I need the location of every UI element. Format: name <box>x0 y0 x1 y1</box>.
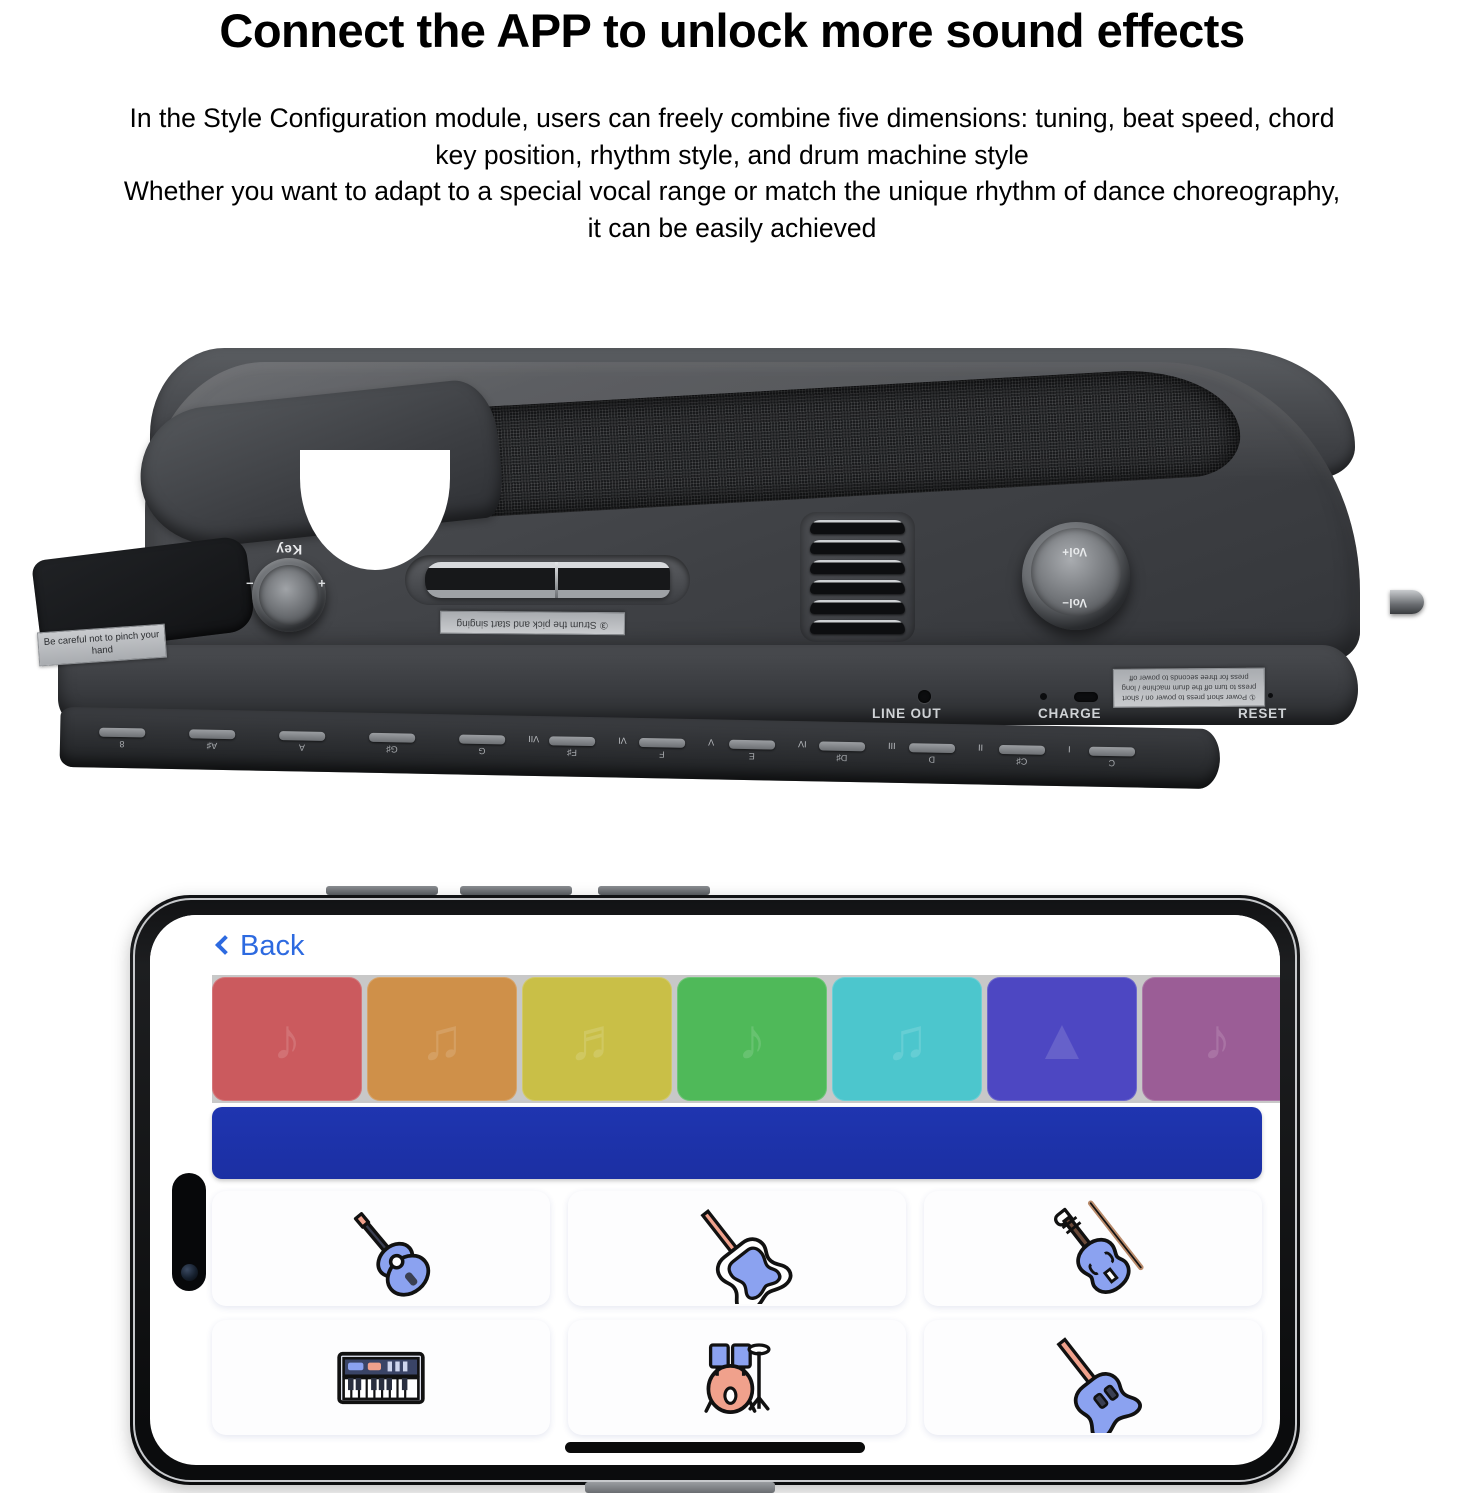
violin-icon <box>1033 1194 1153 1304</box>
acoustic-guitar-icon <box>321 1194 441 1304</box>
key-knob-label: Key <box>258 542 320 557</box>
instrument-cell-electric-guitar-alt[interactable] <box>924 1320 1262 1435</box>
chord-key[interactable]: IIID <box>906 743 958 765</box>
chord-key[interactable]: A♯ <box>186 729 238 751</box>
dynamic-island <box>172 1173 206 1291</box>
chord-key-note: E <box>726 751 778 762</box>
strum-sticker: ③ Strum the pick and start singing <box>440 611 625 635</box>
instrument-cell-synthesizer[interactable] <box>212 1320 550 1435</box>
tile-ghost-icon: ♫ <box>367 977 517 1101</box>
subcopy-line-3: Whether you want to adapt to a special v… <box>10 173 1454 210</box>
reset-pinhole[interactable] <box>1268 693 1273 698</box>
chord-key-note: G♯ <box>366 744 418 755</box>
chord-key-roman: V <box>708 737 714 747</box>
vent-slot <box>810 600 905 614</box>
phone-antenna-band <box>585 1482 775 1493</box>
mic-hole <box>1040 693 1047 700</box>
chord-key-note: A <box>276 742 328 753</box>
chord-key[interactable]: IIC♯ <box>996 745 1048 767</box>
chord-key[interactable]: VIF <box>636 738 688 760</box>
key-knob-minus-label: − <box>246 576 254 591</box>
chord-key-note: C <box>1086 758 1138 769</box>
instrument-grid <box>212 1191 1280 1435</box>
style-tile-red[interactable]: ♪ <box>212 977 362 1101</box>
tile-ghost-icon: ♪ <box>1142 977 1280 1101</box>
key-knob-plus-label: + <box>318 576 326 591</box>
chord-key-cap <box>369 733 415 743</box>
phone-screen: Back ♪ ♫ ♬ ♪ <box>150 915 1280 1465</box>
drum-kit-icon <box>677 1323 797 1433</box>
phone-side-button-1[interactable] <box>326 886 438 895</box>
tile-ghost-icon: ♪ <box>212 977 362 1101</box>
chord-key-roman: III <box>888 741 896 751</box>
subcopy-line-2: key position, rhythm style, and drum mac… <box>10 137 1454 174</box>
style-tile-purple[interactable]: ♪ <box>1142 977 1280 1101</box>
selected-style-bar[interactable] <box>212 1107 1262 1179</box>
page-subcopy: In the Style Configuration module, users… <box>10 100 1454 246</box>
style-tile-cyan[interactable]: ♫ <box>832 977 982 1101</box>
tile-ghost-icon: ♪ <box>677 977 827 1101</box>
chord-key[interactable]: IC <box>1086 747 1138 769</box>
strap-pin <box>1390 590 1424 614</box>
chord-key[interactable]: 8 <box>96 728 148 750</box>
chord-key-cap <box>729 740 775 750</box>
back-button[interactable]: Back <box>218 930 304 963</box>
vent-grille <box>800 512 915 642</box>
style-tile-green[interactable]: ♪ <box>677 977 827 1101</box>
chord-key-roman: IV <box>798 739 807 749</box>
pick-strum-bar[interactable] <box>425 562 670 598</box>
chord-key[interactable]: IVD♯ <box>816 741 868 763</box>
chord-key-note: D♯ <box>816 752 868 763</box>
tile-ghost-icon: ♫ <box>832 977 982 1101</box>
page-headline: Connect the APP to unlock more sound eff… <box>0 6 1464 55</box>
chord-key-note: 8 <box>96 739 148 750</box>
instrument-cell-violin[interactable] <box>924 1191 1262 1306</box>
synthesizer-keyboard-icon <box>321 1323 441 1433</box>
vent-slot <box>810 620 905 634</box>
app-nav-bar: Back <box>150 915 1280 977</box>
chord-key-cap <box>459 735 505 745</box>
instrument-cell-electric-guitar[interactable] <box>568 1191 906 1306</box>
tile-ghost-icon: ▲ <box>987 977 1137 1101</box>
vent-slot <box>810 560 905 574</box>
volume-up-label: Vol+ <box>1062 545 1087 557</box>
chord-key[interactable]: A <box>276 731 328 753</box>
chord-key[interactable]: G <box>456 734 508 756</box>
chord-key-roman: I <box>1068 744 1071 754</box>
electric-guitar-icon <box>677 1194 797 1304</box>
subcopy-line-1: In the Style Configuration module, users… <box>10 100 1454 137</box>
tile-ghost-icon: ♬ <box>522 977 672 1101</box>
chord-key-note: D <box>906 754 958 765</box>
phone-side-button-2[interactable] <box>460 886 572 895</box>
chord-key-cap <box>909 743 955 753</box>
vent-slot <box>810 540 905 554</box>
smart-guitar-device: Key + − Vol+ Vol− LINE <box>0 300 1464 840</box>
chord-key-cap <box>99 728 145 738</box>
chord-key-note: G <box>456 745 508 756</box>
vent-slot <box>810 580 905 594</box>
chord-key-cap <box>1089 747 1135 757</box>
electric-guitar-alt-icon <box>1033 1323 1153 1433</box>
chord-key[interactable]: G♯ <box>366 733 418 755</box>
chord-key[interactable]: VIIF♯ <box>546 736 598 758</box>
chord-key-cap <box>189 729 235 739</box>
chord-key-cap <box>279 731 325 741</box>
chord-key-roman: II <box>978 742 983 752</box>
chord-key-cap <box>999 745 1045 755</box>
style-tile-strip[interactable]: ♪ ♫ ♬ ♪ ♫ ▲ <box>212 975 1280 1103</box>
port-row: LINE OUT CHARGE RESET <box>870 688 1340 728</box>
chord-key[interactable]: VE <box>726 740 778 762</box>
marketing-page: Connect the APP to unlock more sound eff… <box>0 0 1464 1493</box>
instrument-cell-acoustic-guitar[interactable] <box>212 1191 550 1306</box>
charge-port[interactable] <box>1074 692 1098 702</box>
product-photo: Key + − Vol+ Vol− LINE <box>0 300 1464 840</box>
chord-key-note: C♯ <box>996 756 1048 767</box>
phone-frame: Back ♪ ♫ ♬ ♪ <box>130 895 1300 1485</box>
line-out-label: LINE OUT <box>872 706 941 721</box>
chord-key-cap <box>639 738 685 748</box>
volume-down-label: Vol− <box>1062 596 1087 608</box>
home-indicator <box>565 1442 865 1453</box>
key-knob-ring <box>259 565 319 625</box>
instrument-cell-drum-kit[interactable] <box>568 1320 906 1435</box>
style-tile-indigo[interactable]: ▲ <box>987 977 1137 1101</box>
subcopy-line-4: it can be easily achieved <box>10 210 1454 247</box>
power-info-sticker: ① Power short press to power on / short … <box>1113 667 1265 708</box>
chord-key-roman: VII <box>528 734 539 744</box>
vent-slot <box>810 520 905 534</box>
volume-knob[interactable] <box>1022 522 1130 630</box>
line-out-jack[interactable] <box>918 690 931 703</box>
chord-key-note: F♯ <box>546 747 598 758</box>
reset-label: RESET <box>1238 706 1287 721</box>
phone-mockup: Back ♪ ♫ ♬ ♪ <box>130 880 1300 1493</box>
chord-key-note: A♯ <box>186 740 238 751</box>
back-button-label: Back <box>240 930 304 963</box>
chord-key-cap <box>549 736 595 746</box>
chord-key-roman: VI <box>618 736 627 746</box>
chord-key-note: F <box>636 749 688 760</box>
chevron-left-icon <box>215 935 235 955</box>
phone-side-button-3[interactable] <box>598 886 710 895</box>
charge-label: CHARGE <box>1038 706 1101 721</box>
style-tile-yellow[interactable]: ♬ <box>522 977 672 1101</box>
key-knob[interactable] <box>252 558 326 632</box>
style-tile-orange[interactable]: ♫ <box>367 977 517 1101</box>
chord-key-cap <box>819 741 865 751</box>
